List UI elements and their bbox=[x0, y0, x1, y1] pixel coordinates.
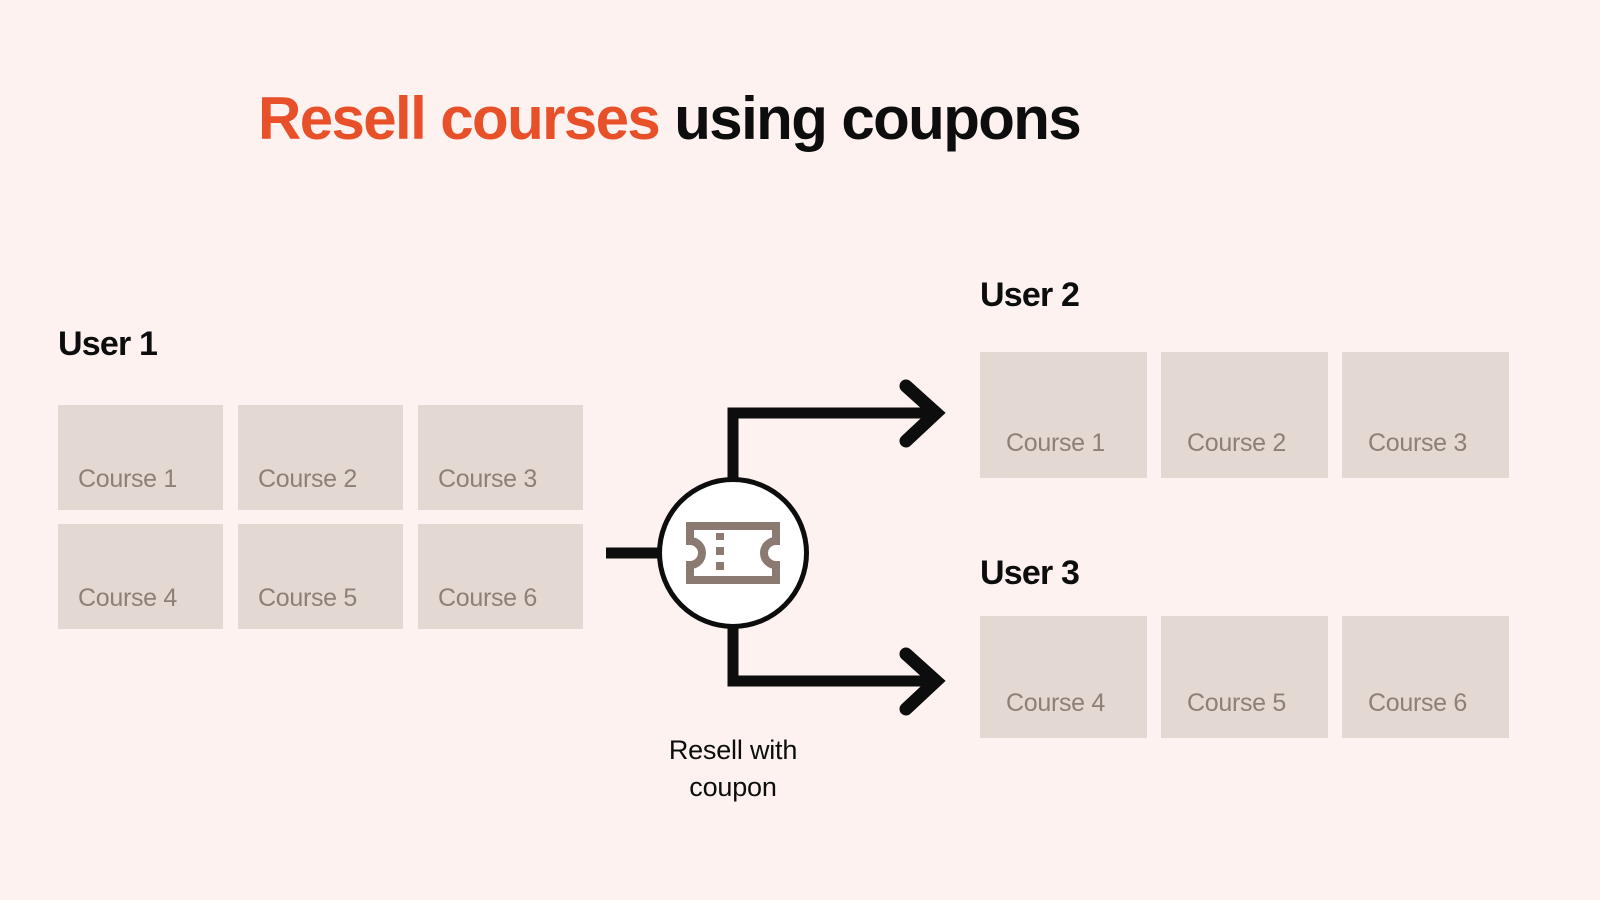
course-card[interactable]: Course 3 bbox=[418, 405, 583, 510]
user-group-label-user2: User 2 bbox=[980, 276, 1079, 315]
course-grid-user1: Course 1 Course 2 Course 3 Course 4 Cour… bbox=[58, 405, 583, 629]
course-card-label: Course 1 bbox=[78, 465, 177, 494]
page-title-accent: Resell courses bbox=[258, 85, 659, 152]
course-card[interactable]: Course 3 bbox=[1342, 352, 1509, 478]
course-card-label: Course 2 bbox=[1187, 429, 1286, 458]
course-card[interactable]: Course 1 bbox=[58, 405, 223, 510]
course-card-label: Course 5 bbox=[258, 584, 357, 613]
course-card[interactable]: Course 5 bbox=[238, 524, 403, 629]
course-card[interactable]: Course 1 bbox=[980, 352, 1147, 478]
arrowhead-to-user2 bbox=[906, 386, 936, 441]
course-card[interactable]: Course 4 bbox=[980, 616, 1147, 738]
course-grid-user2: Course 1 Course 2 Course 3 bbox=[980, 352, 1509, 478]
course-card-label: Course 2 bbox=[258, 465, 357, 494]
page-title-rest: using coupons bbox=[659, 85, 1080, 152]
page-title: Resell courses using coupons bbox=[258, 86, 1080, 152]
course-card[interactable]: Course 4 bbox=[58, 524, 223, 629]
coupon-hub-node[interactable] bbox=[657, 477, 809, 629]
course-card-label: Course 1 bbox=[1006, 429, 1105, 458]
course-card-label: Course 6 bbox=[1368, 689, 1467, 718]
arrowhead-to-user3 bbox=[906, 654, 936, 709]
course-card-label: Course 5 bbox=[1187, 689, 1286, 718]
course-grid-user3: Course 4 Course 5 Course 6 bbox=[980, 616, 1509, 738]
diagram-canvas: Resell courses using coupons User 1 Cour… bbox=[0, 0, 1600, 900]
course-card[interactable]: Course 2 bbox=[238, 405, 403, 510]
course-card[interactable]: Course 2 bbox=[1161, 352, 1328, 478]
course-card[interactable]: Course 6 bbox=[418, 524, 583, 629]
hub-caption-line-2: coupon bbox=[608, 769, 858, 806]
course-card[interactable]: Course 6 bbox=[1342, 616, 1509, 738]
hub-caption-line-1: Resell with bbox=[608, 732, 858, 769]
user-group-label-user1: User 1 bbox=[58, 325, 157, 364]
user-group-label-user3: User 3 bbox=[980, 554, 1079, 593]
course-card-label: Course 3 bbox=[438, 465, 537, 494]
course-card-label: Course 4 bbox=[1006, 689, 1105, 718]
hub-caption: Resell with coupon bbox=[608, 732, 858, 807]
course-card-label: Course 6 bbox=[438, 584, 537, 613]
course-card[interactable]: Course 5 bbox=[1161, 616, 1328, 738]
coupon-ticket-icon bbox=[686, 522, 780, 584]
course-card-label: Course 4 bbox=[78, 584, 177, 613]
course-card-label: Course 3 bbox=[1368, 429, 1467, 458]
